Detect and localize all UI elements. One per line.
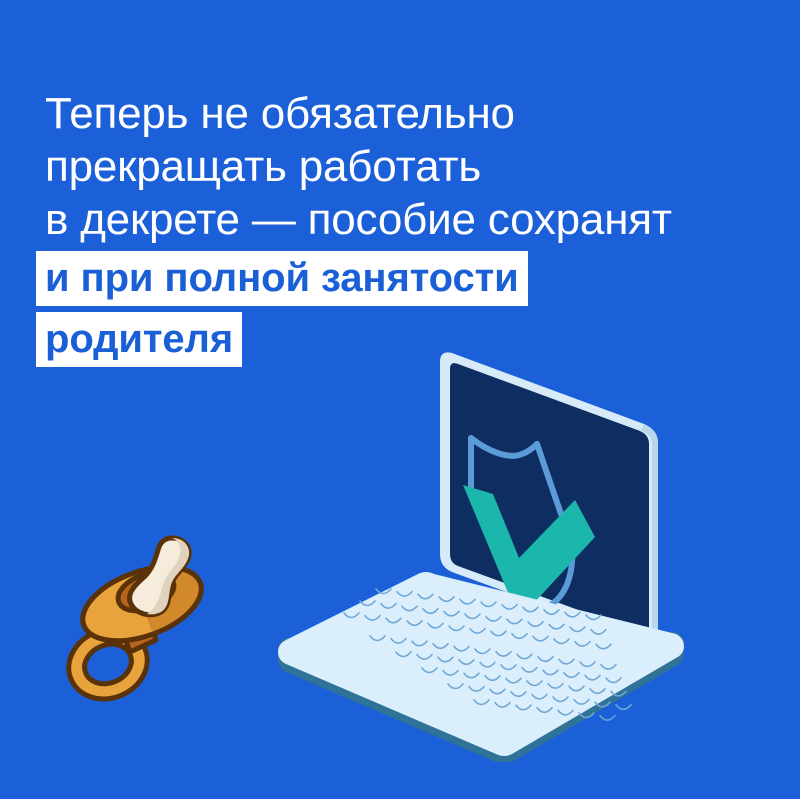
headline-block: Теперь не обязательно прекращать работат… bbox=[36, 92, 766, 373]
pacifier-illustration bbox=[56, 528, 236, 718]
headline-line-4: и при полной занятости bbox=[36, 251, 766, 306]
laptop-illustration bbox=[272, 342, 692, 762]
headline-line-4-highlight: и при полной занятости bbox=[36, 251, 528, 306]
poster-canvas: Теперь не обязательно прекращать работат… bbox=[0, 0, 800, 799]
headline-line-3: в декрете — пособие сохранят bbox=[36, 198, 766, 242]
headline-line-5-highlight: родителя bbox=[36, 312, 242, 367]
headline-line-1: Теперь не обязательно bbox=[36, 92, 766, 136]
headline-line-2: прекращать работать bbox=[36, 145, 766, 189]
